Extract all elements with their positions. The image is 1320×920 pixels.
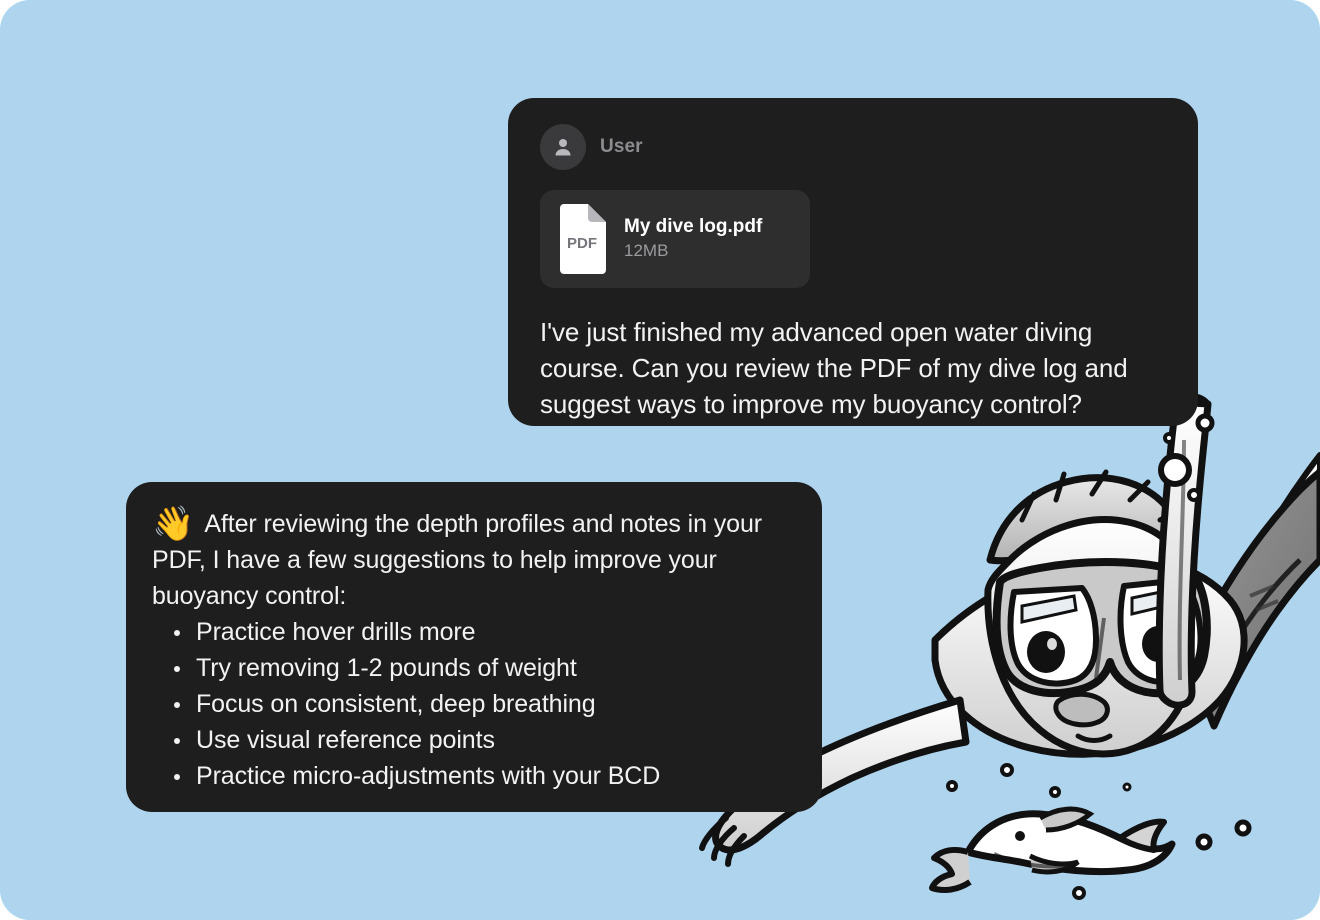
assistant-message-bubble: 👋 After reviewing the depth profiles and… [126, 482, 822, 812]
buoyancy-tips-list: Practice hover drills more Try removing … [152, 614, 794, 794]
list-item: Try removing 1-2 pounds of weight [172, 650, 794, 686]
person-avatar-icon [540, 124, 586, 170]
assistant-intro-block: 👋 After reviewing the depth profiles and… [152, 506, 794, 614]
user-message-text: I've just finished my advanced open wate… [540, 314, 1166, 422]
file-attachment-card[interactable]: PDF My dive log.pdf 12MB [540, 190, 810, 288]
file-name-label: My dive log.pdf [624, 216, 762, 237]
file-meta: My dive log.pdf 12MB [624, 215, 792, 263]
user-name-label: User [600, 136, 643, 158]
svg-text:PDF: PDF [567, 235, 597, 252]
screenshot-root: User PDF My dive log.pdf 12MB I've just … [0, 0, 1320, 920]
waving-hand-emoji: 👋 [152, 506, 194, 542]
user-message-bubble: User PDF My dive log.pdf 12MB I've just … [508, 98, 1198, 426]
list-item: Practice hover drills more [172, 614, 794, 650]
fish-illustration [932, 809, 1172, 890]
bubbles [948, 385, 1249, 898]
list-item: Focus on consistent, deep breathing [172, 686, 794, 722]
file-size-label: 12MB [624, 241, 668, 260]
pdf-file-icon: PDF [554, 204, 610, 274]
assistant-intro-text: After reviewing the depth profiles and n… [152, 506, 794, 614]
user-header: User [540, 124, 1166, 170]
list-item: Practice micro-adjustments with your BCD [172, 758, 794, 794]
list-item: Use visual reference points [172, 722, 794, 758]
